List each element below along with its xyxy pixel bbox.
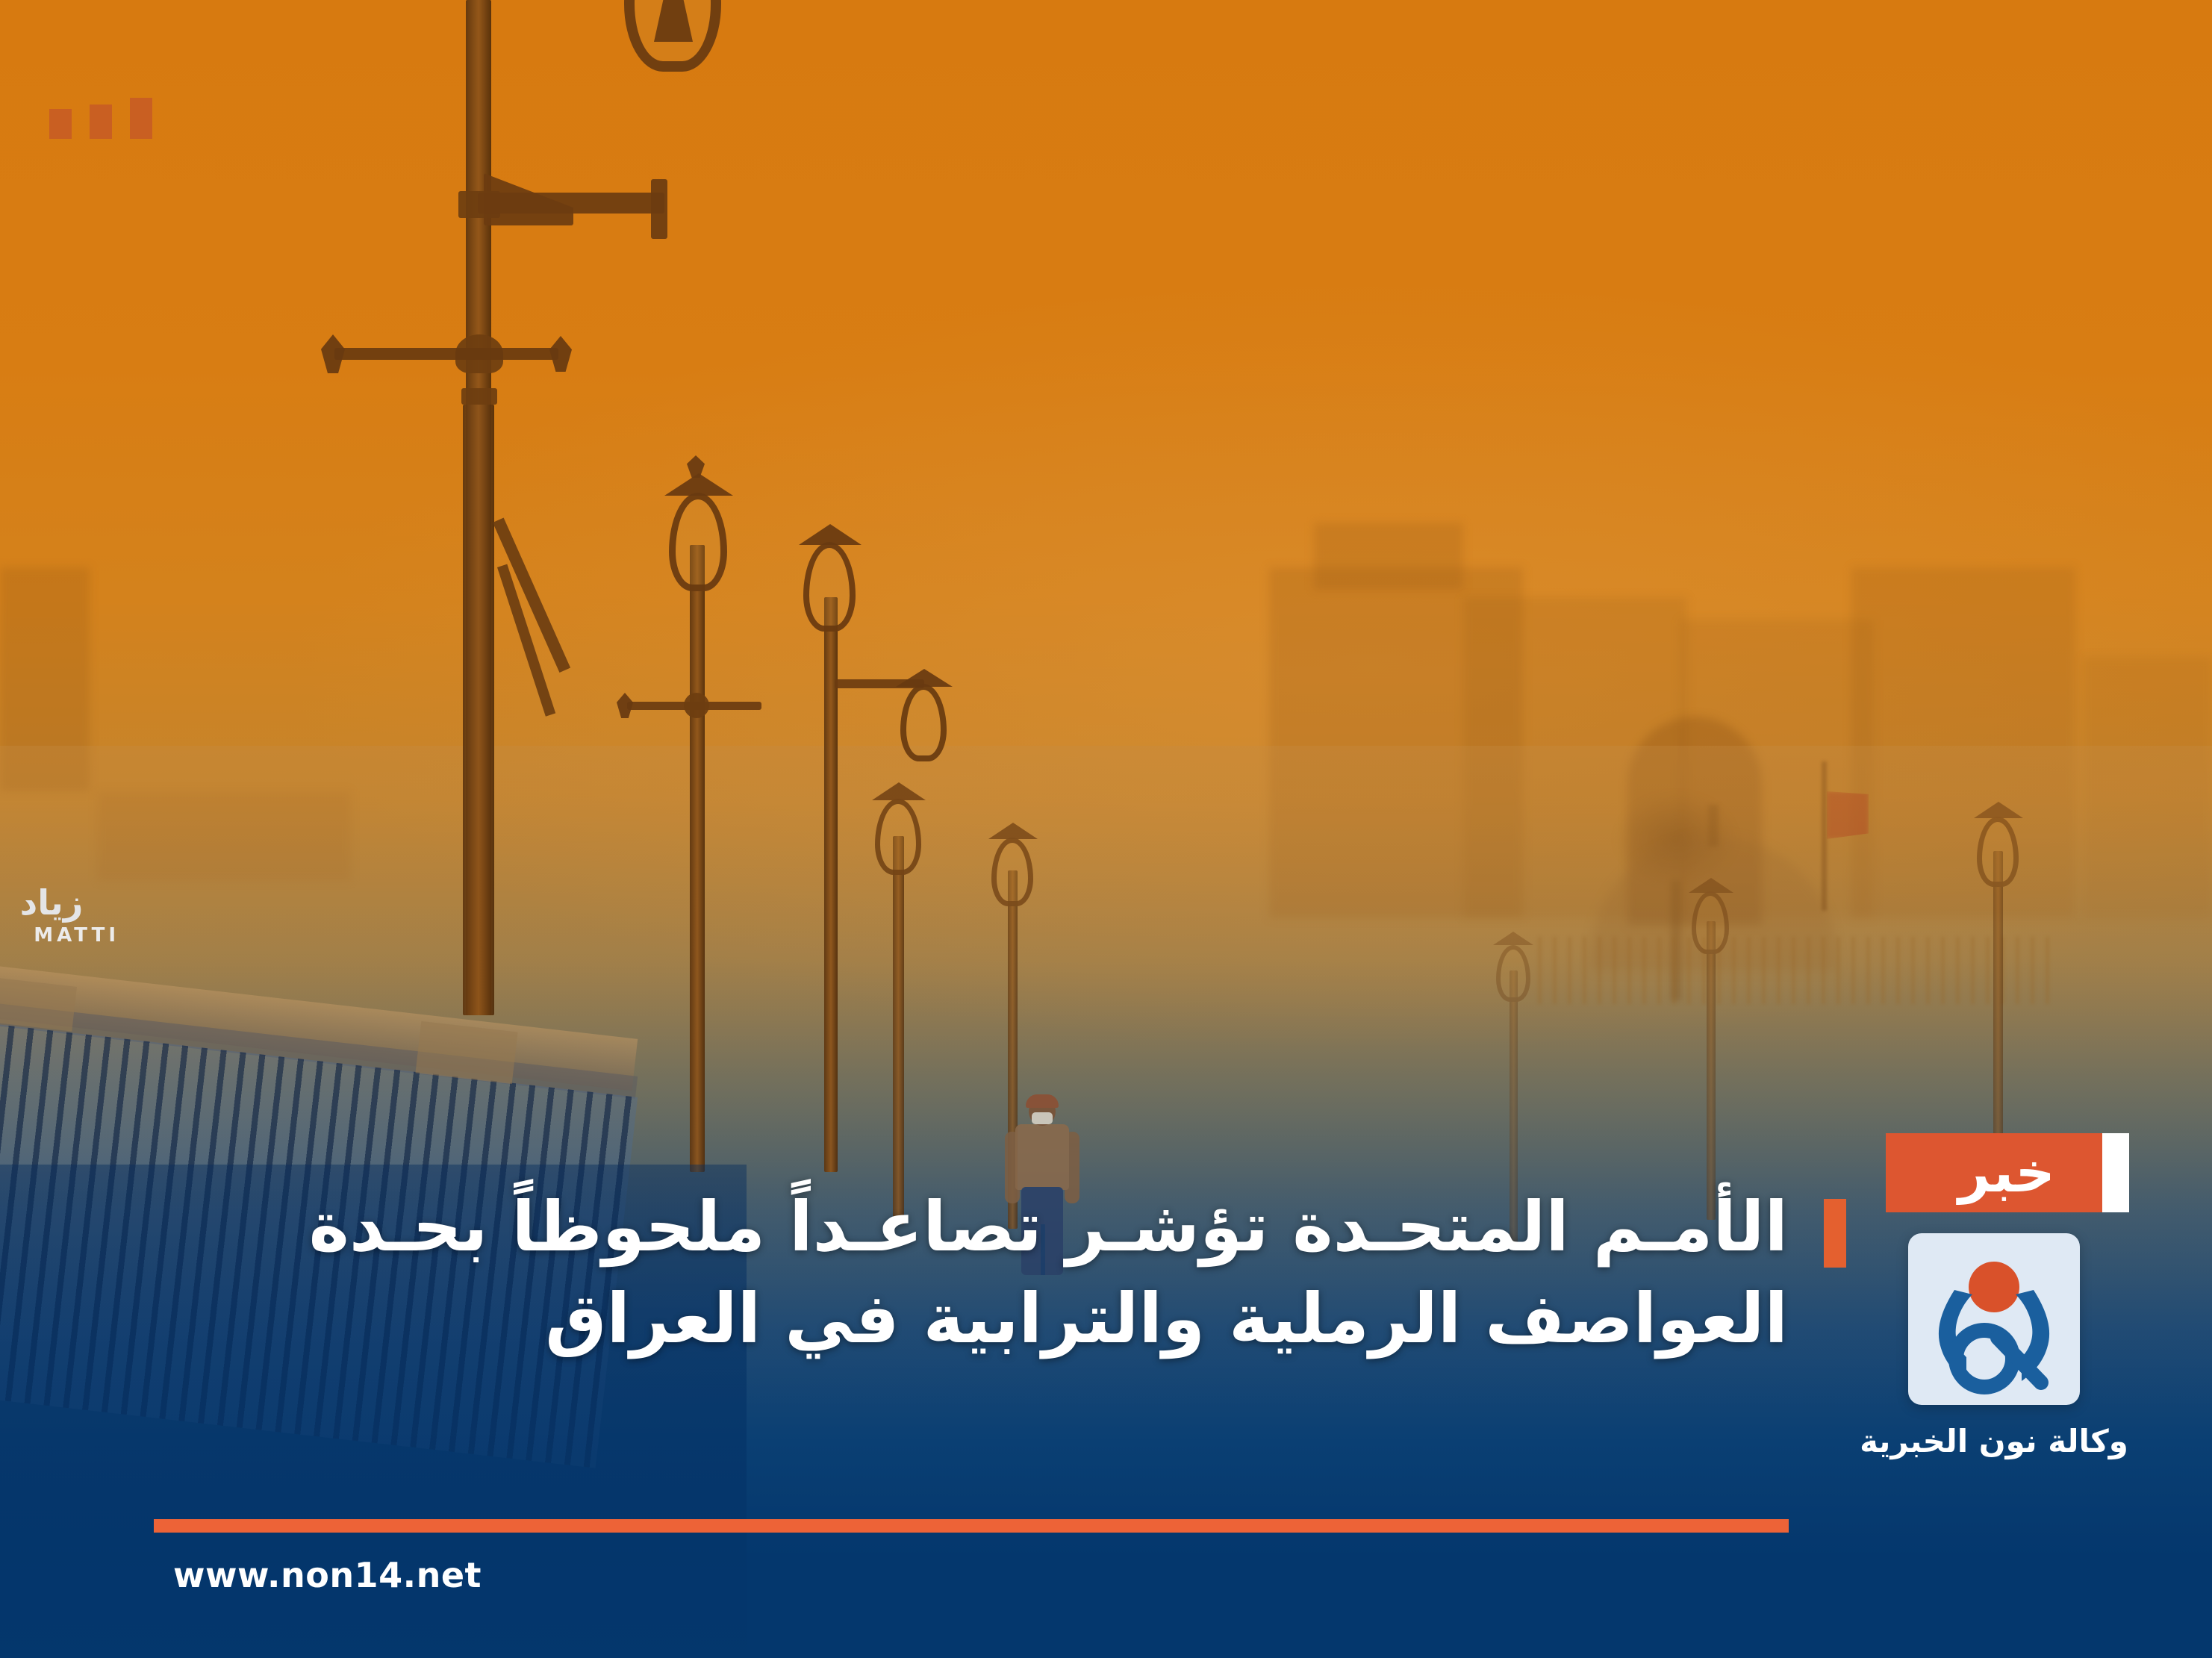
pedestrian-face-mask [1032, 1112, 1053, 1124]
headline-line-2: العواصف الرملية والترابية في العراق [474, 1273, 1788, 1365]
news-graphic-card: زياد MATTI الأمـم المتحـدة تؤشـر تصاعـدا… [0, 0, 2212, 1658]
noon-agency-logo-icon [1908, 1233, 2080, 1405]
news-badge-label: خبر [1958, 1145, 2055, 1200]
decorative-bar [49, 109, 72, 139]
photographer-watermark: زياد MATTI [0, 885, 130, 947]
watermark-latin-text: MATTI [0, 924, 130, 947]
news-badge: خبر [1886, 1133, 2102, 1212]
headline: الأمـم المتحـدة تؤشـر تصاعـداً ملحوظاً ب… [474, 1181, 1788, 1365]
building-silhouette [2083, 657, 2212, 918]
headline-accent-bar [1824, 1199, 1846, 1268]
building-silhouette [97, 791, 351, 881]
news-badge-white-bar [2102, 1133, 2129, 1212]
agency-name: وكالة نون الخبرية [1851, 1423, 2137, 1459]
building-silhouette [0, 567, 90, 791]
dome-finial [1708, 805, 1719, 847]
orange-divider [154, 1519, 1789, 1533]
pedestrian-torso [1015, 1124, 1069, 1190]
decorative-bars [49, 98, 152, 139]
headline-line-1: الأمـم المتحـدة تؤشـر تصاعـداً ملحوظاً ب… [474, 1181, 1788, 1273]
flag [1827, 791, 1869, 839]
street-lamp [1687, 896, 1799, 1224]
pedestrian-cap [1026, 1094, 1059, 1108]
decorative-bar [130, 98, 152, 139]
site-url[interactable]: www.non14.net [173, 1555, 482, 1595]
bridge-post [415, 1021, 517, 1084]
bridge-post [0, 976, 77, 1031]
decorative-bar [90, 105, 112, 139]
flagpole [1822, 761, 1827, 911]
watermark-arabic-text: زياد [0, 885, 130, 920]
brand-column: خبر وكالة نون الخبرية [1851, 1133, 2137, 1459]
agency-logo[interactable] [1908, 1233, 2080, 1405]
